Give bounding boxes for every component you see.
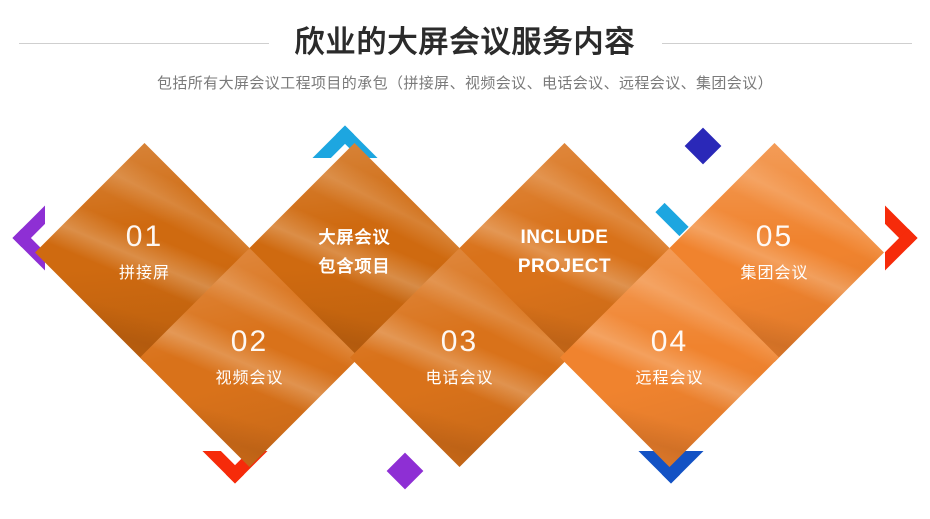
diamond-diagram: 01 拼接屏 大屏会议 包含项目 INCLUDE PROJECT 05 集团会议: [0, 0, 930, 519]
slide-canvas: 欣业的大屏会议服务内容 包括所有大屏会议工程项目的承包（拼接屏、视频会议、电话会…: [0, 0, 930, 519]
cyan-bar-mid: [655, 203, 688, 236]
indigo-diamond-top: [685, 128, 722, 165]
purple-diamond-bottom: [387, 453, 424, 490]
